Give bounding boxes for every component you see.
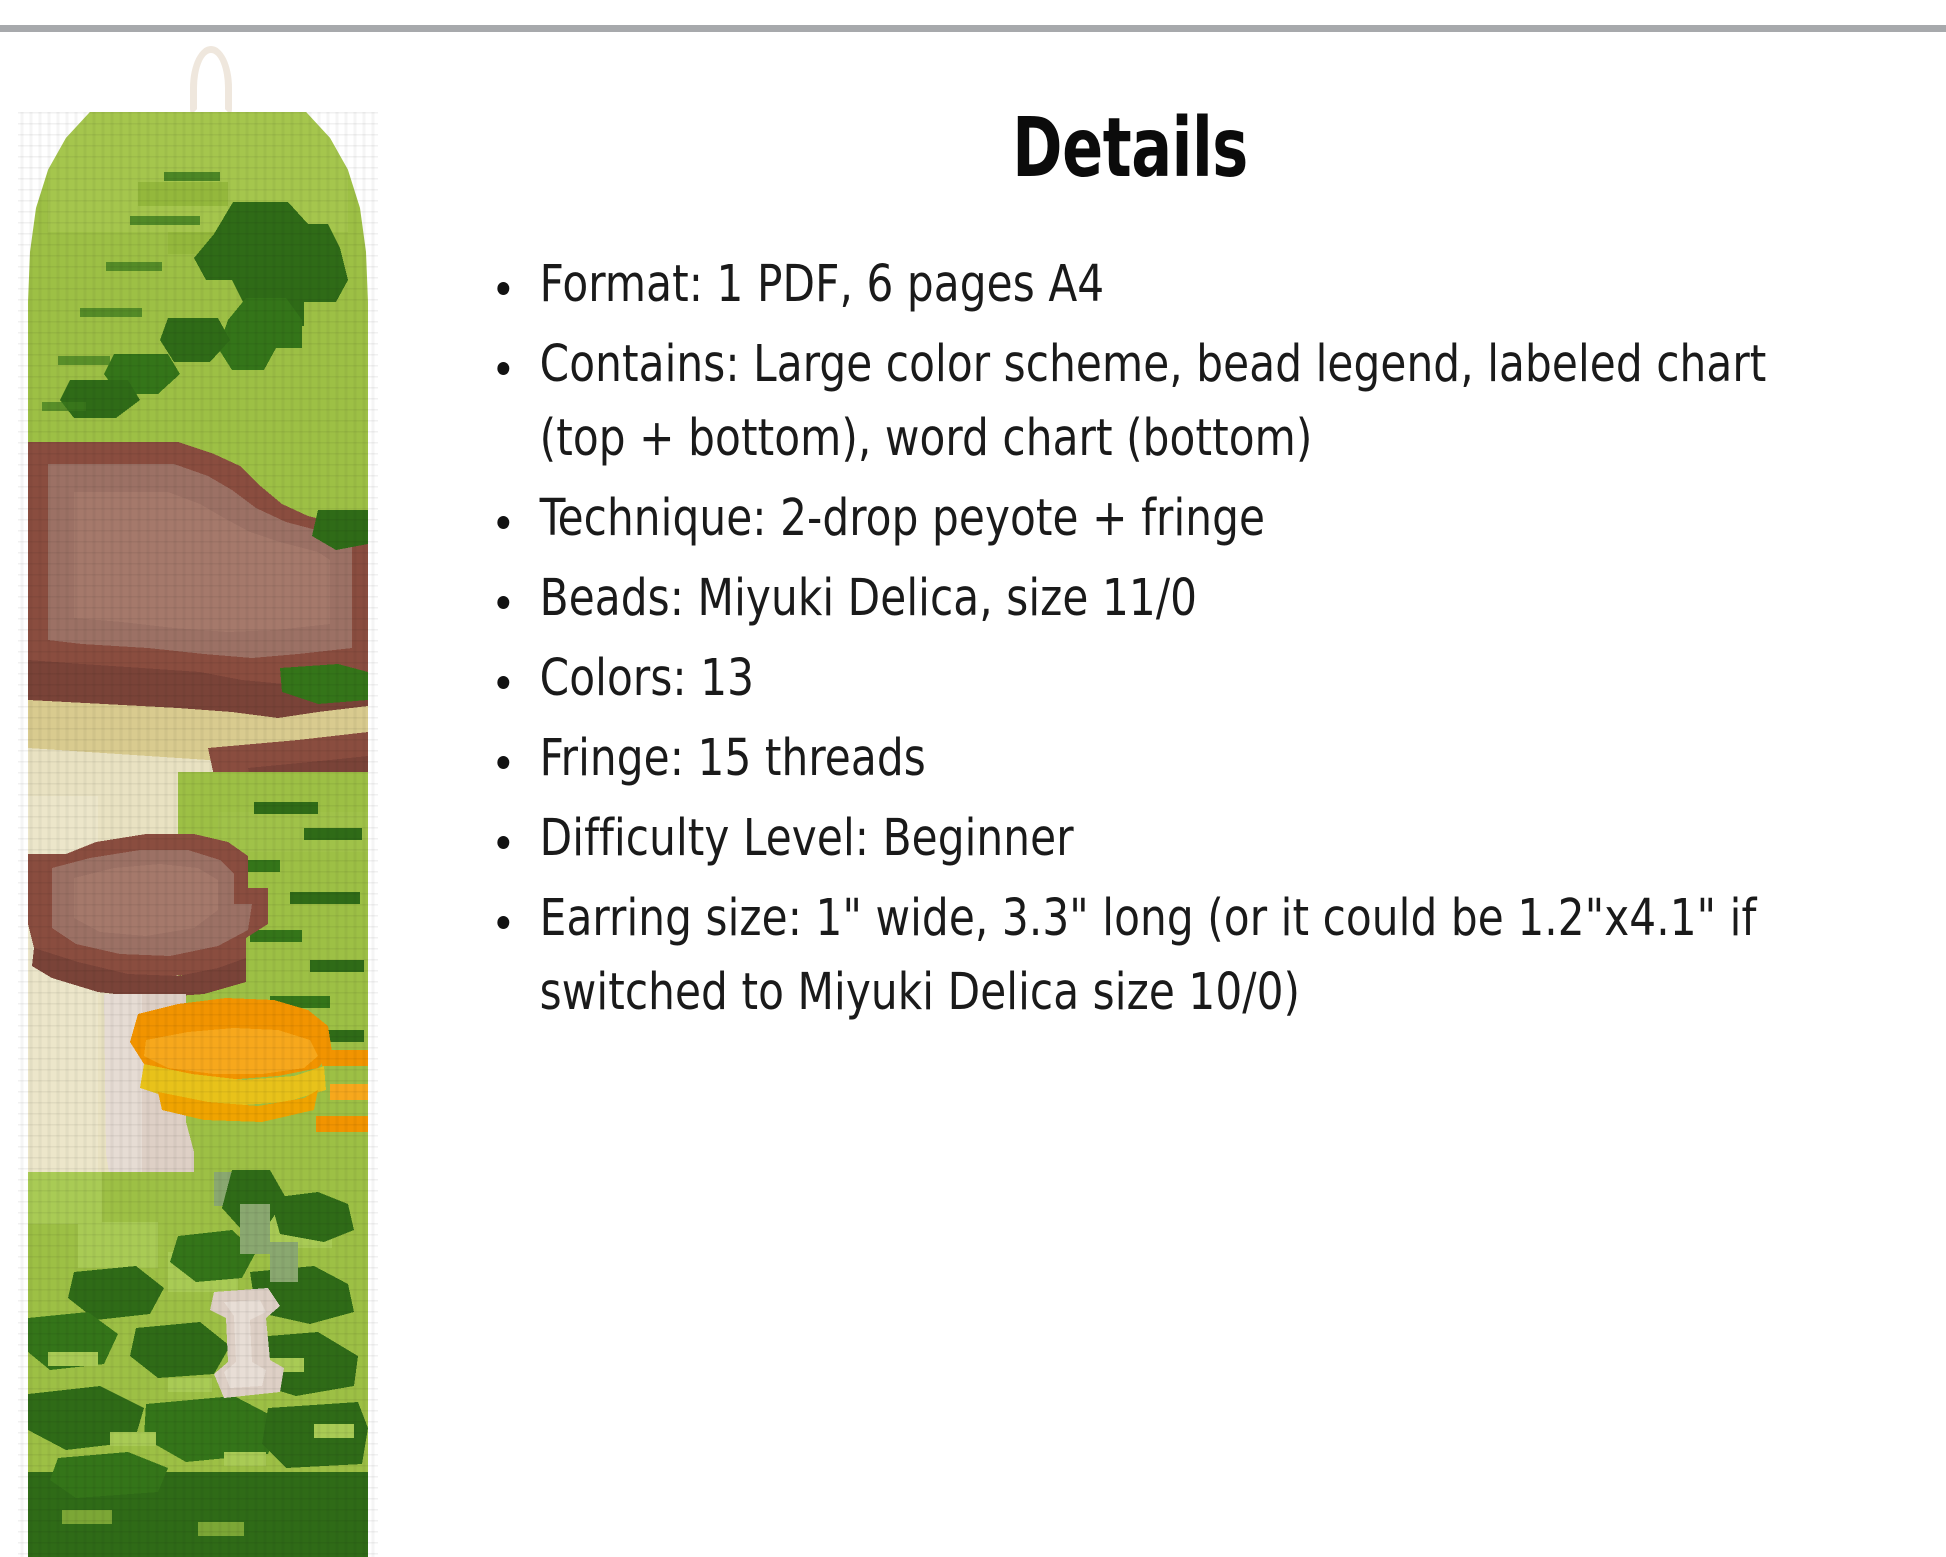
list-item: Format: 1 PDF, 6 pages A4 (490, 248, 1830, 322)
list-item: Earring size: 1" wide, 3.3" long (or it … (490, 882, 1830, 1030)
details-section: Details Format: 1 PDF, 6 pages A4 Contai… (470, 40, 1946, 1557)
earring-hook-loop-icon (190, 46, 232, 116)
top-divider-rule (0, 25, 1946, 32)
product-image-panel (0, 32, 470, 1557)
list-item: Beads: Miyuki Delica, size 11/0 (490, 562, 1830, 636)
list-item: Colors: 13 (490, 642, 1830, 716)
list-item: Technique: 2-drop peyote + fringe (490, 482, 1830, 556)
list-item: Fringe: 15 threads (490, 722, 1830, 796)
beaded-earring-artwork (18, 112, 378, 1557)
list-item: Difficulty Level: Beginner (490, 802, 1830, 876)
list-item: Contains: Large color scheme, bead legen… (490, 328, 1830, 476)
details-bullet-list: Format: 1 PDF, 6 pages A4 Contains: Larg… (470, 248, 1946, 1030)
page-title: Details (603, 108, 1813, 190)
